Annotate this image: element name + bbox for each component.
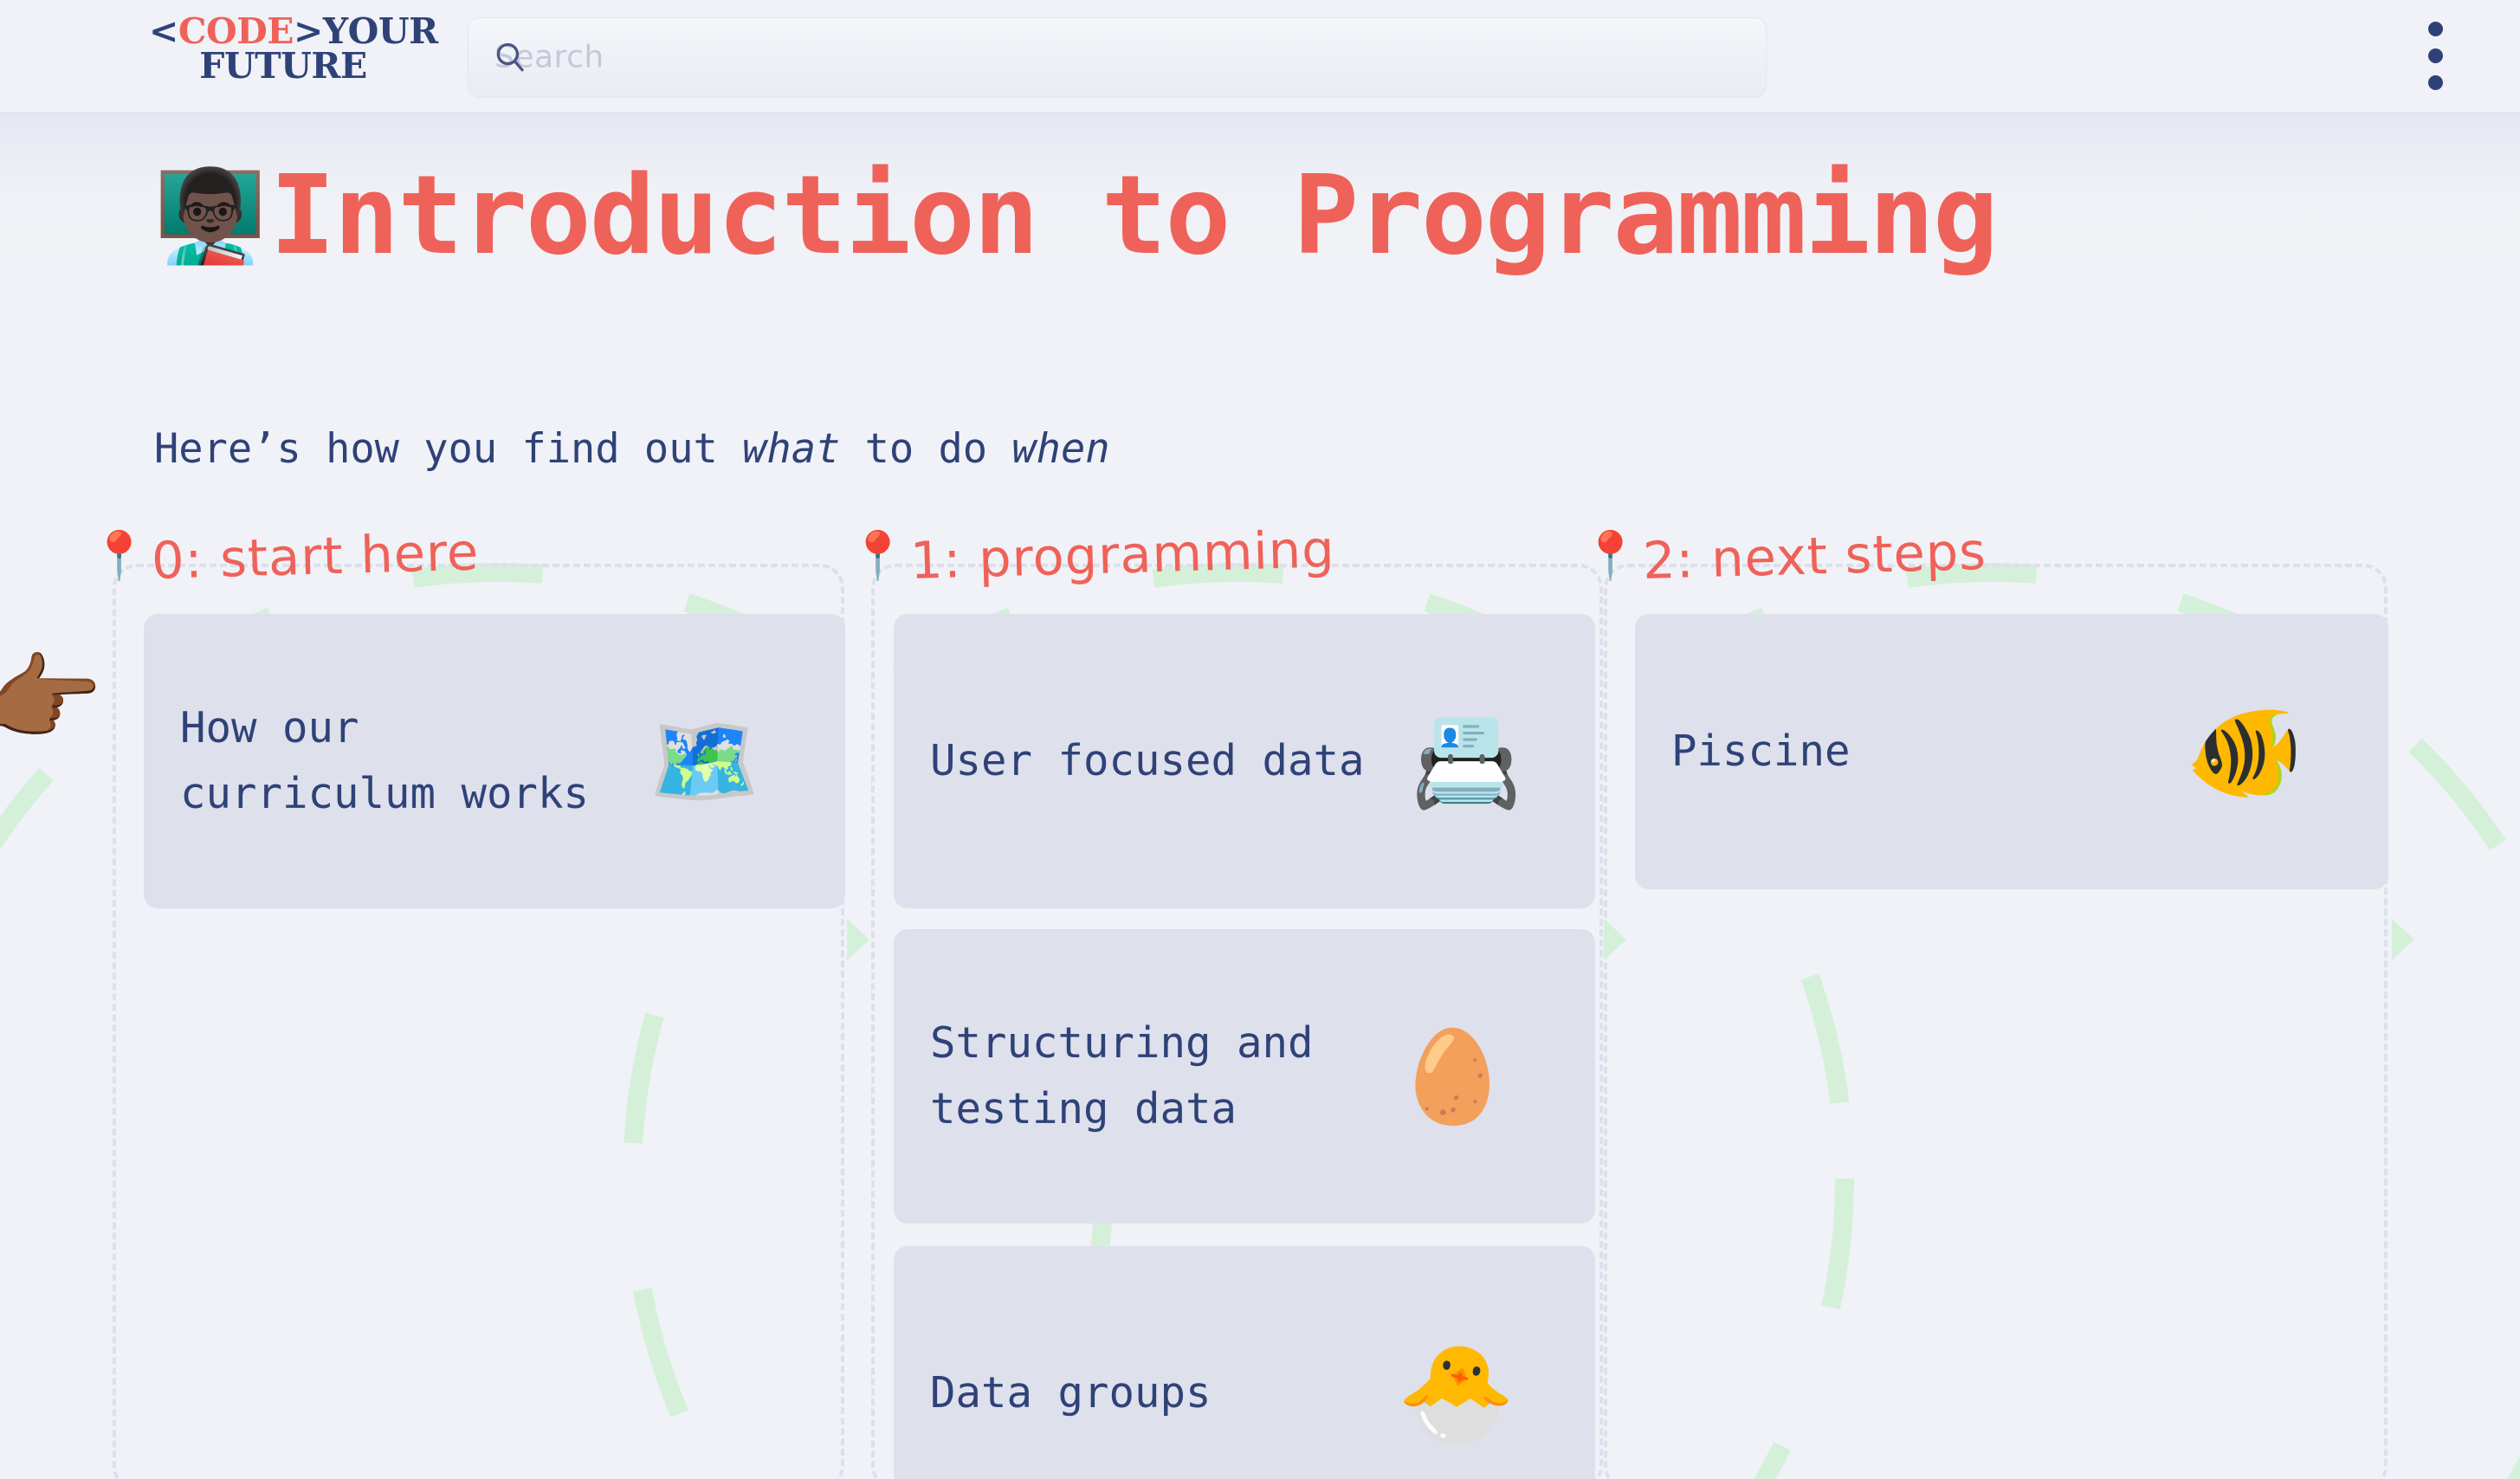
card-index-icon: 📇 (1411, 716, 1523, 806)
pushpin-icon: 📍 (1581, 533, 1639, 579)
subtitle-emphasis-what: what (742, 425, 840, 473)
card-title: Data groups (894, 1360, 1212, 1426)
column-header-2: 📍 2: next steps (1623, 531, 1987, 591)
card-structuring-and-testing-data[interactable]: Structuring and testing data 🥚 (894, 929, 1595, 1224)
card-how-our-curriculum-works[interactable]: How our curriculum works 🗺️ (144, 614, 845, 908)
curriculum-columns: 👉🏾 📍 0: start here 📍 1: programming 📍 2:… (0, 512, 2520, 1479)
pushpin-icon: 📍 (90, 533, 148, 579)
egg-icon: 🥚 (1397, 1031, 1509, 1121)
card-title: Structuring and testing data (894, 1011, 1379, 1142)
page-subtitle: Here’s how you find out what to do when (154, 425, 1110, 473)
column-label-2: 2: next steps (1642, 521, 1987, 591)
hatching-chick-icon: 🐣 (1397, 1346, 1515, 1441)
page-title: Introduction to Programming (270, 161, 1997, 270)
search-input[interactable]: Search (468, 17, 1767, 97)
subtitle-part-1: Here’s how you find out (154, 425, 742, 473)
page-title-row: 👨🏿‍🏫 Introduction to Programming (154, 161, 1997, 270)
tropical-fish-icon: 🐠 (2185, 704, 2304, 799)
page-body: 👨🏿‍🏫 Introduction to Programming Here’s … (0, 113, 2520, 1479)
subtitle-part-2: to do (840, 425, 1011, 473)
search-icon (492, 39, 528, 75)
column-label-1: 1: programming (909, 519, 1335, 591)
kebab-dot-2 (2428, 48, 2443, 63)
column-header-0: 📍 0: start here (132, 531, 480, 591)
decorative-arrow-icon (847, 919, 869, 960)
kebab-menu-icon[interactable] (2418, 20, 2452, 93)
column-label-0: 0: start here (151, 521, 480, 591)
pointing-hand-icon: 👉🏾 (0, 650, 103, 746)
card-title: How our curriculum works (144, 695, 629, 827)
column-header-1: 📍 1: programming (890, 531, 1335, 591)
kebab-dot-1 (2428, 22, 2443, 36)
logo-line-1: <CODE>YOUR (149, 14, 417, 48)
card-title: Piscine (1635, 719, 1851, 785)
pushpin-icon: 📍 (849, 533, 907, 579)
card-data-groups[interactable]: Data groups 🐣 (894, 1246, 1595, 1479)
top-navigation-bar: <CODE>YOUR FUTURE Search (0, 0, 2520, 113)
decorative-arrow-icon (2392, 919, 2414, 960)
teacher-icon: 👨🏿‍🏫 (154, 171, 267, 261)
subtitle-emphasis-when: when (1011, 425, 1109, 473)
map-icon: 🗺️ (649, 716, 761, 806)
kebab-dot-3 (2428, 75, 2443, 90)
site-logo[interactable]: <CODE>YOUR FUTURE (149, 14, 417, 83)
card-piscine[interactable]: Piscine 🐠 (1635, 614, 2388, 889)
decorative-arrow-icon (1604, 919, 1626, 960)
logo-bracket-open: < (149, 10, 178, 52)
logo-future-text: FUTURE (149, 48, 417, 83)
card-user-focused-data[interactable]: User focused data 📇 (894, 614, 1595, 908)
card-title: User focused data (894, 728, 1365, 794)
